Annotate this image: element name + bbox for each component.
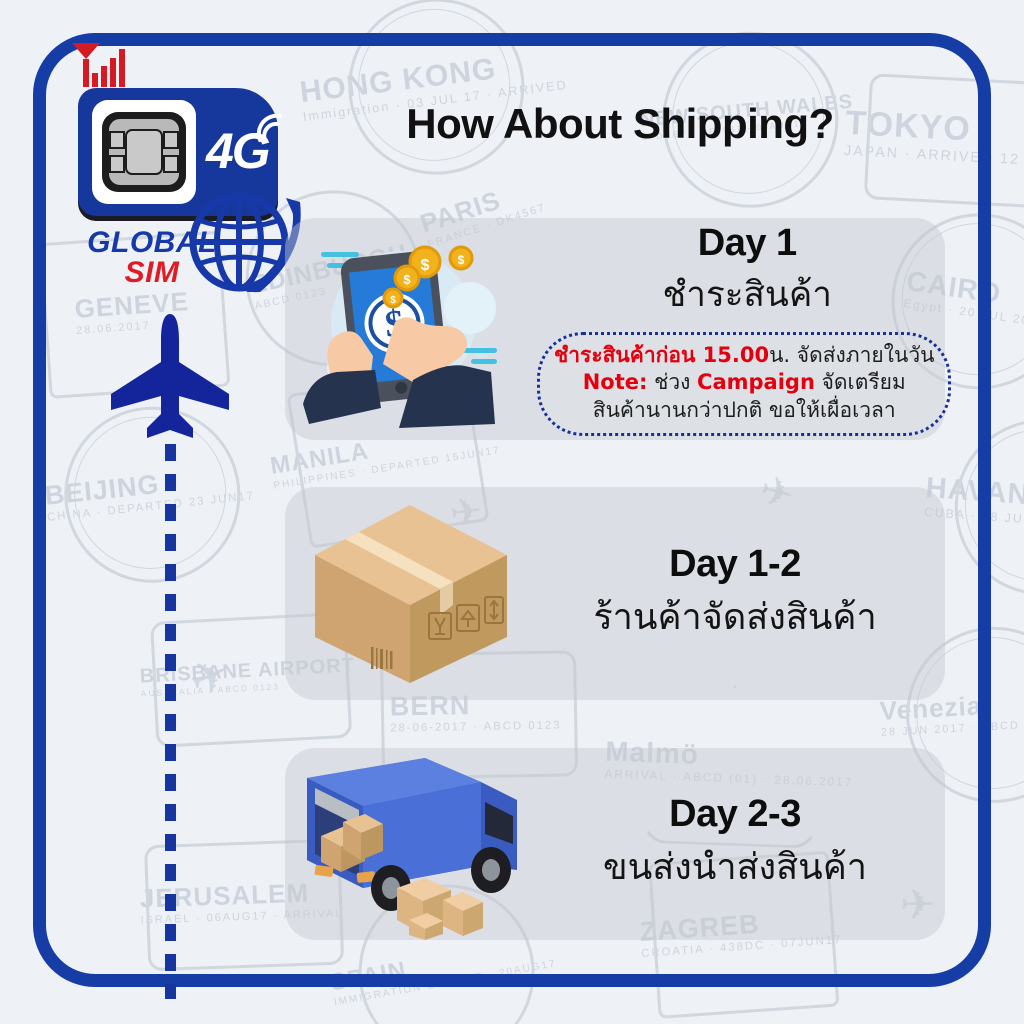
svg-text:$: $ — [390, 295, 396, 306]
step-description: ชำระสินค้า — [535, 267, 959, 322]
airplane-icon — [105, 310, 235, 440]
note-line-1-pre: ชำระสินค้าก่อน — [554, 343, 703, 367]
note-line-1-post: น. จัดส่งภายในวัน — [769, 343, 934, 367]
note-line-1-time: 15.00 — [703, 343, 769, 367]
stamp-spain: SPAIN IMMIGRATION OFFICER · 20AUG17 — [328, 931, 557, 1009]
note-line-2-mid: ช่วง — [647, 370, 697, 394]
brand-global-text: GLOBAL — [72, 226, 232, 260]
brand-wordmark: GLOBAL SIM — [72, 226, 232, 290]
delivery-truck-illustration — [285, 748, 535, 940]
signal-bars-icon — [70, 40, 128, 92]
step-card-day-1-text: Day 1 ชำระสินค้า ชำระสินค้าก่อน 15.00น. … — [535, 222, 969, 436]
step-card-day-1: $ $ $ $ $ Day 1 ชำระสินค้า ชำระสินค้าก่อ… — [285, 218, 945, 440]
note-line-3: สินค้านานกว่าปกติ ขอให้เผื่อเวลา — [554, 397, 934, 424]
sim-chip-icon — [92, 100, 196, 204]
hand-phone-payment-illustration: $ $ $ $ $ — [285, 218, 535, 440]
brand-logo: 4G GLOBAL SIM — [62, 40, 302, 92]
step-card-day-2-3-text: Day 2-3 ขนส่งนำส่งสินค้า — [535, 793, 945, 895]
step-day-label: Day 1 — [535, 222, 959, 265]
page-title: How About Shipping? — [330, 100, 910, 148]
svg-text:$: $ — [403, 272, 411, 287]
note-label: Note: — [583, 370, 648, 394]
note-line-2: Note: ช่วง Campaign จัดเตรียม — [554, 369, 934, 396]
airplane-route — [105, 310, 235, 999]
svg-text:$: $ — [458, 253, 465, 267]
step-card-day-2-3: Day 2-3 ขนส่งนำส่งสินค้า — [285, 748, 945, 940]
note-line-1: ชำระสินค้าก่อน 15.00น. จัดส่งภายในวัน — [554, 342, 934, 369]
shipping-note-box: ชำระสินค้าก่อน 15.00น. จัดส่งภายในวัน No… — [537, 332, 951, 436]
step-card-day-1-2: Day 1-2 ร้านค้าจัดส่งสินค้า — [285, 487, 945, 700]
route-dotted-line — [165, 444, 176, 999]
step-card-day-1-2-text: Day 1-2 ร้านค้าจัดส่งสินค้า — [535, 543, 945, 645]
brand-sim-text: SIM — [72, 256, 232, 290]
step-description: ขนส่งนำส่งสินค้า — [535, 838, 935, 895]
step-day-label: Day 1-2 — [535, 543, 935, 586]
cardboard-box-illustration — [285, 487, 535, 700]
step-day-label: Day 2-3 — [535, 793, 935, 836]
step-description: ร้านค้าจัดส่งสินค้า — [535, 588, 935, 645]
wifi-arc-icon — [254, 110, 288, 144]
note-line-2-post: จัดเตรียม — [815, 370, 906, 394]
note-campaign: Campaign — [697, 370, 815, 394]
svg-text:$: $ — [421, 257, 430, 274]
